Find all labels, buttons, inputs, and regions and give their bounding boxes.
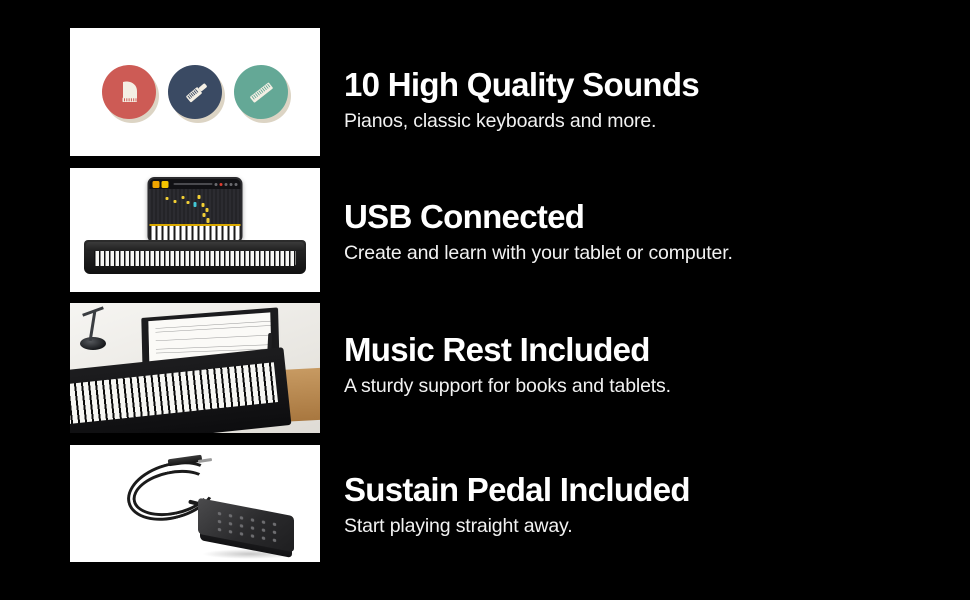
app-control-dot: [225, 183, 228, 186]
feature-subline: Start playing straight away.: [344, 514, 690, 538]
piano-control-panel: [86, 242, 304, 251]
piano-shadow: [88, 291, 294, 292]
tablet-device: [148, 177, 243, 243]
sound-icon-set: [70, 28, 320, 156]
app-control-dot: [215, 183, 218, 186]
feature-headline: Sustain Pedal Included: [344, 473, 690, 508]
app-track-chip: [162, 181, 169, 188]
pedal-body: [198, 507, 294, 555]
usb-photo: [70, 168, 320, 292]
feature-headline: Music Rest Included: [344, 333, 671, 368]
sustain-pedal-photo: [70, 445, 320, 562]
app-title-placeholder: [174, 183, 213, 185]
feature-row-music-rest: Music Rest Included A sturdy support for…: [0, 303, 970, 433]
tablet-app-toolbar: [150, 179, 241, 189]
app-control-dot: [230, 183, 233, 186]
feature-subline: Create and learn with your tablet or com…: [344, 241, 733, 265]
feature-text-sounds: 10 High Quality Sounds Pianos, classic k…: [344, 68, 699, 133]
record-button-dot: [220, 183, 223, 186]
feature-text-sustain-pedal: Sustain Pedal Included Start playing str…: [344, 473, 690, 538]
desk-lamp-base: [80, 337, 106, 350]
keyboard-icon: [234, 65, 288, 119]
feature-row-usb: USB Connected Create and learn with your…: [0, 168, 970, 292]
feature-headline: USB Connected: [344, 200, 733, 235]
digital-piano: [84, 240, 306, 274]
feature-headline: 10 High Quality Sounds: [344, 68, 699, 103]
keytar-icon: [168, 65, 222, 119]
media-panel-usb: [70, 168, 320, 292]
feature-row-sustain-pedal: Sustain Pedal Included Start playing str…: [0, 445, 970, 562]
app-instrument-chip: [153, 181, 160, 188]
piano-keys: [94, 251, 296, 266]
feature-subline: A sturdy support for books and tablets.: [344, 374, 671, 398]
feature-subline: Pianos, classic keyboards and more.: [344, 109, 699, 133]
feature-text-usb: USB Connected Create and learn with your…: [344, 200, 733, 265]
media-panel-music-rest: [70, 303, 320, 433]
media-panel-sounds: [70, 28, 320, 156]
grand-piano-icon: [102, 65, 156, 119]
feature-list-banner: 10 High Quality Sounds Pianos, classic k…: [0, 0, 970, 600]
tablet-keyboard-strip: [150, 224, 241, 241]
app-settings-dot: [235, 183, 238, 186]
piano-roll-grid: [150, 189, 241, 224]
feature-text-music-rest: Music Rest Included A sturdy support for…: [344, 333, 671, 398]
piano-keys: [70, 362, 278, 424]
music-rest-photo: [70, 303, 320, 433]
feature-row-sounds: 10 High Quality Sounds Pianos, classic k…: [0, 28, 970, 156]
media-panel-sustain-pedal: [70, 445, 320, 562]
